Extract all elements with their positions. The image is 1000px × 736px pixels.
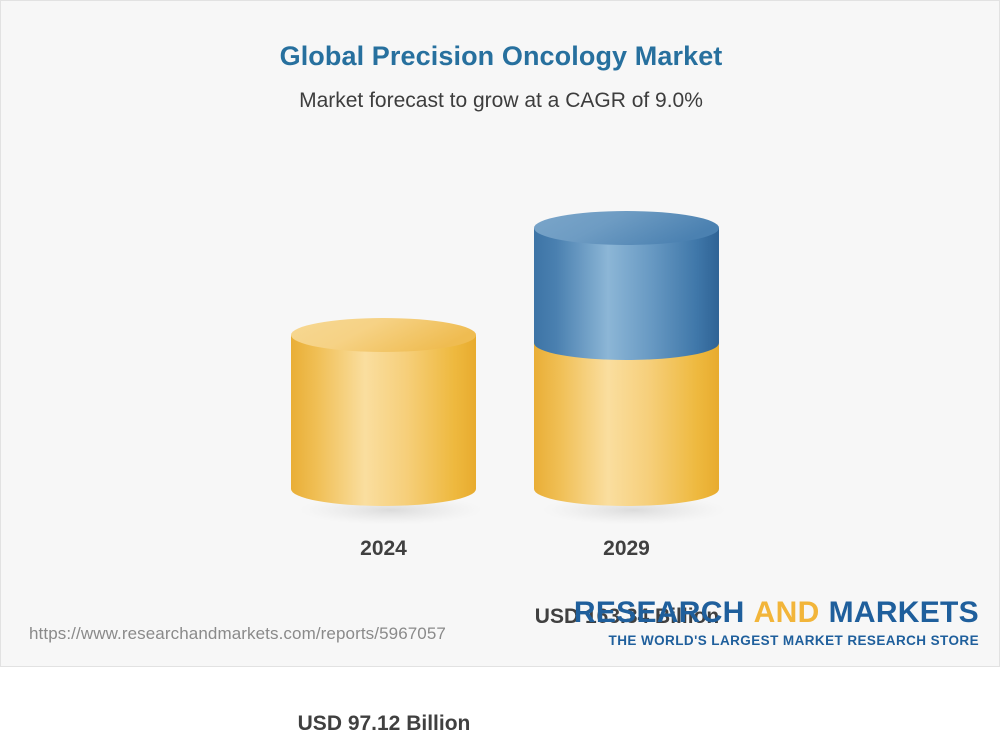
- category-label-2029: 2029: [534, 537, 719, 561]
- cylinder-top-2029: [534, 211, 719, 245]
- chart-plot-area: USD 97.12 Billion: [1, 131, 1000, 571]
- brand-logo: RESEARCHANDMARKETS THE WORLD'S LARGEST M…: [574, 598, 979, 648]
- brand-name-research: RESEARCH: [574, 596, 745, 629]
- brand-tagline: THE WORLD'S LARGEST MARKET RESEARCH STOR…: [574, 633, 979, 648]
- cylinder-2024: [291, 318, 476, 523]
- infographic-canvas: Global Precision Oncology Market Market …: [0, 0, 1000, 667]
- value-label-2024: USD 97.12 Billion: [214, 712, 554, 736]
- source-url[interactable]: https://www.researchandmarkets.com/repor…: [29, 624, 446, 644]
- cylinder-segment-yellow-2029: [534, 343, 719, 506]
- category-label-2024: 2024: [291, 537, 476, 561]
- page-title: Global Precision Oncology Market: [1, 41, 1000, 72]
- cylinder-segment-blue-2029: [534, 228, 719, 360]
- brand-name-and: AND: [754, 596, 820, 629]
- cylinder-body-2024: [291, 335, 476, 506]
- chart-subtitle: Market forecast to grow at a CAGR of 9.0…: [1, 89, 1000, 113]
- brand-name-markets: MARKETS: [829, 596, 979, 629]
- brand-name: RESEARCHANDMARKETS: [574, 598, 979, 628]
- cylinder-2029: [534, 211, 719, 523]
- cylinder-top-2024: [291, 318, 476, 352]
